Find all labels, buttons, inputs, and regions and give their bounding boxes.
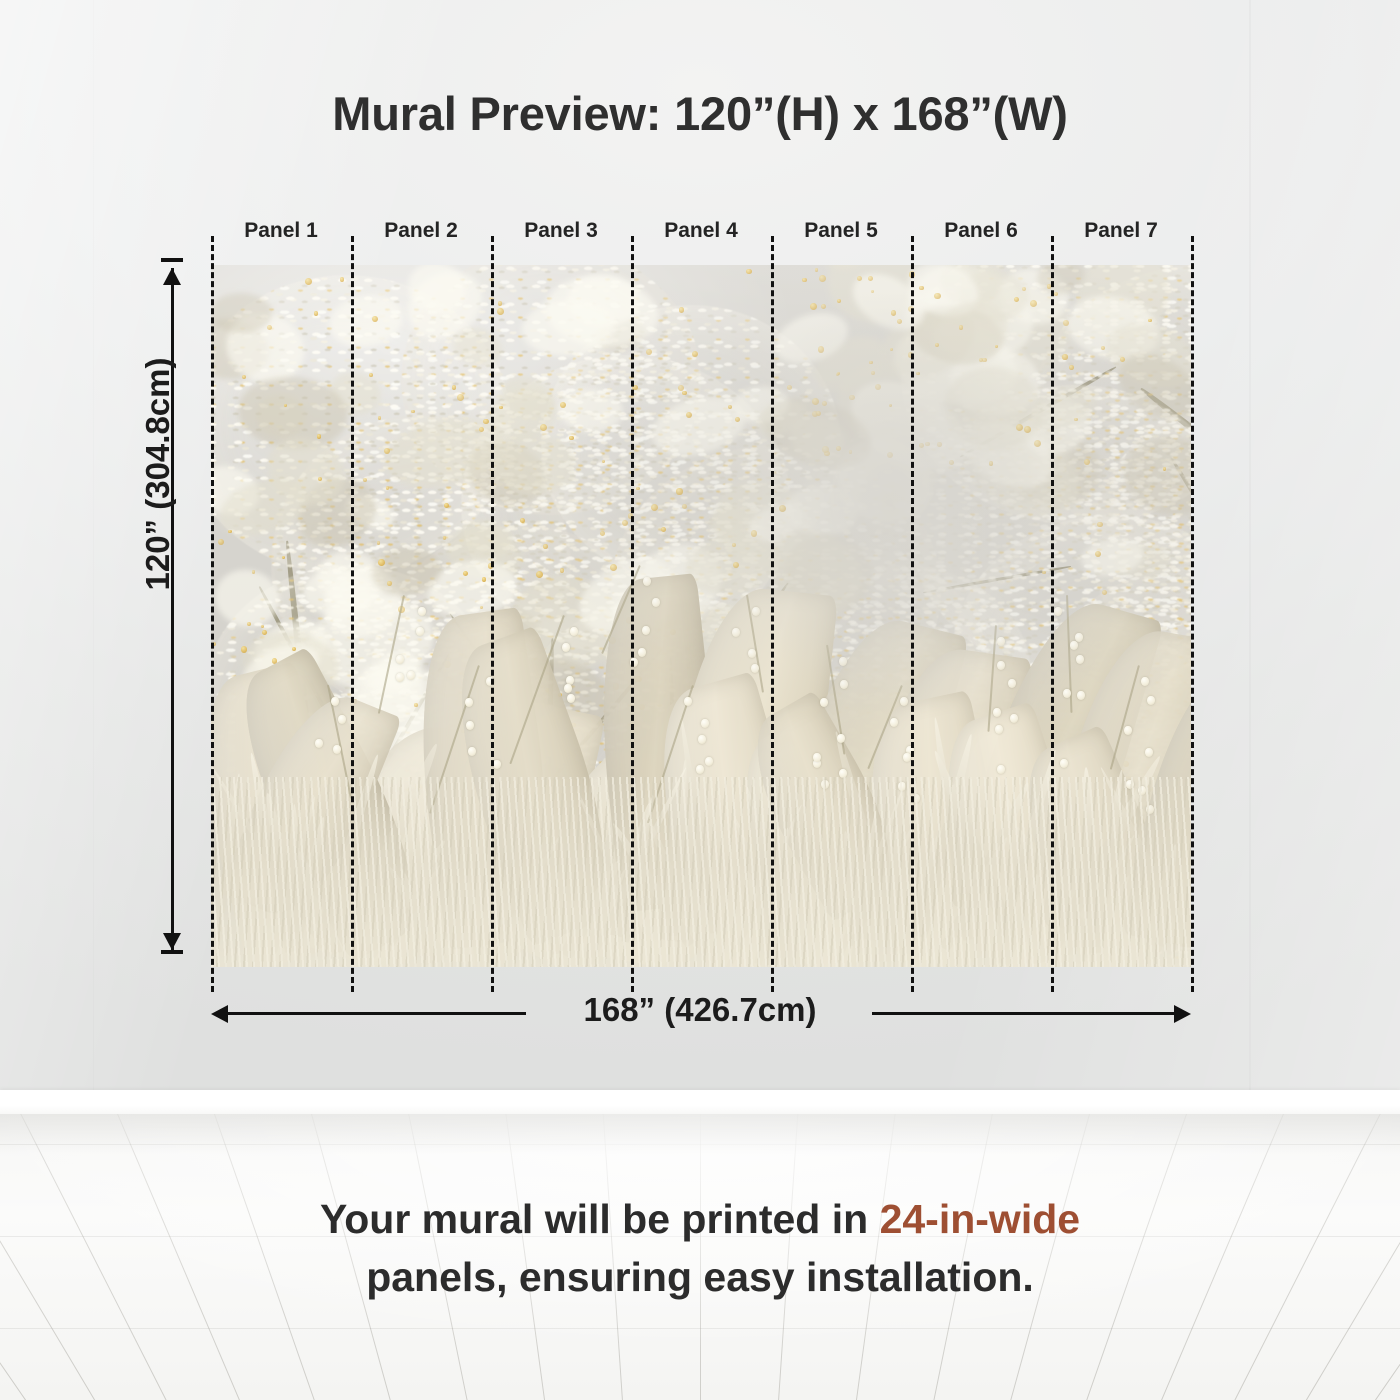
height-dimension-label: 120” (304.8cm): [139, 304, 177, 644]
height-cap-top: [161, 258, 183, 262]
caption-line2: panels, ensuring easy installation.: [366, 1254, 1034, 1300]
height-cap-bottom: [161, 950, 183, 954]
height-dimension: 120” (304.8cm): [0, 0, 1400, 1092]
width-dimension-line-left: [226, 1012, 526, 1015]
width-arrow-right-icon: [1174, 1005, 1191, 1023]
caption-highlight: 24-in-wide: [880, 1196, 1080, 1242]
floor-joint-line: [0, 1328, 1400, 1329]
footer-caption: Your mural will be printed in 24-in-wide…: [0, 1190, 1400, 1306]
baseboard: [0, 1090, 1400, 1116]
height-arrow-down-icon: [163, 933, 181, 950]
caption-line1-before: Your mural will be printed in: [320, 1196, 880, 1242]
width-dimension-label: 168” (426.7cm): [520, 991, 880, 1029]
width-dimension-line-right: [872, 1012, 1174, 1015]
floor-joint-line: [0, 1144, 1400, 1145]
